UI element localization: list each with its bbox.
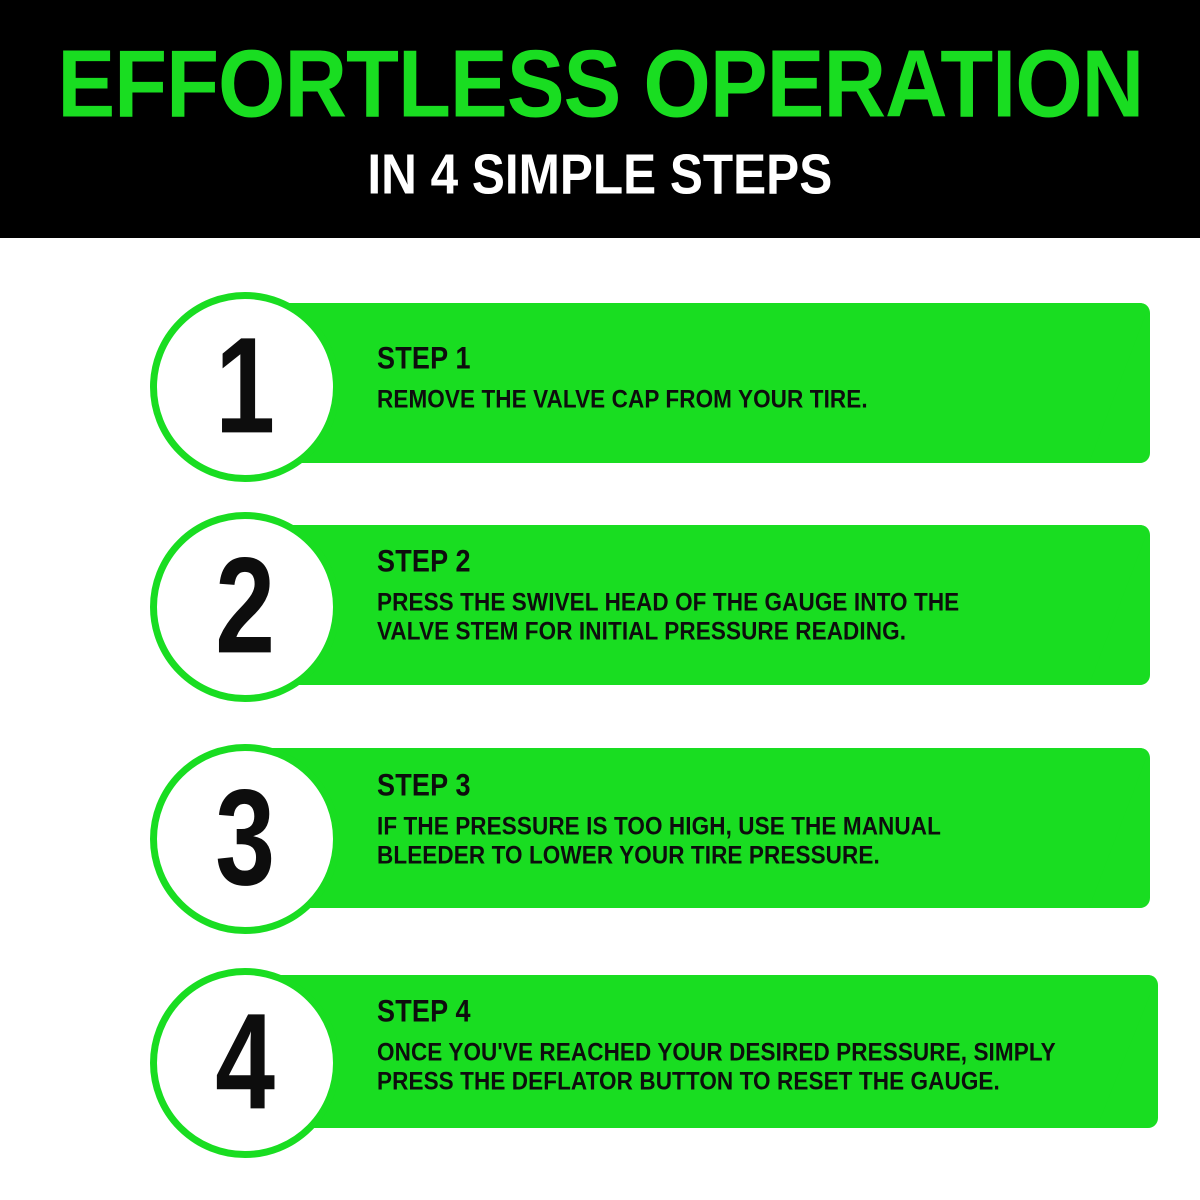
step-number-badge: 3 — [150, 744, 340, 934]
step-text-block: STEP 2 PRESS THE SWIVEL HEAD OF THE GAUG… — [377, 548, 959, 647]
step-title: STEP 4 — [377, 996, 1056, 1027]
step-description-line: PRESS THE SWIVEL HEAD OF THE GAUGE INTO … — [377, 588, 959, 620]
steps-list: 1 STEP 1 REMOVE THE VALVE CAP FROM YOUR … — [0, 238, 1200, 1200]
step-description-line: VALVE STEM FOR INITIAL PRESSURE READING. — [377, 616, 959, 648]
step-title: STEP 2 — [377, 546, 959, 577]
step-title: STEP 3 — [377, 770, 941, 801]
page-subtitle: IN 4 SIMPLE STEPS — [368, 145, 833, 202]
step-description-line: BLEEDER TO LOWER YOUR TIRE PRESSURE. — [377, 840, 941, 872]
page-title: EFFORTLESS OPERATION — [57, 38, 1143, 131]
step-row: 4 STEP 4 ONCE YOU'VE REACHED YOUR DESIRE… — [0, 968, 1200, 1178]
step-number-label: 3 — [215, 770, 275, 907]
step-row: 1 STEP 1 REMOVE THE VALVE CAP FROM YOUR … — [0, 292, 1200, 492]
step-description-line: ONCE YOU'VE REACHED YOUR DESIRED PRESSUR… — [377, 1038, 1056, 1070]
step-number-label: 4 — [215, 994, 275, 1131]
step-description-line: IF THE PRESSURE IS TOO HIGH, USE THE MAN… — [377, 812, 941, 844]
step-text-block: STEP 1 REMOVE THE VALVE CAP FROM YOUR TI… — [377, 345, 868, 415]
step-number-badge: 4 — [150, 968, 340, 1158]
step-text-block: STEP 4 ONCE YOU'VE REACHED YOUR DESIRED … — [377, 998, 1056, 1097]
step-row: 3 STEP 3 IF THE PRESSURE IS TOO HIGH, US… — [0, 744, 1200, 944]
step-text-block: STEP 3 IF THE PRESSURE IS TOO HIGH, USE … — [377, 772, 941, 871]
step-number-label: 2 — [215, 538, 275, 675]
step-row: 2 STEP 2 PRESS THE SWIVEL HEAD OF THE GA… — [0, 512, 1200, 712]
header-band: EFFORTLESS OPERATION IN 4 SIMPLE STEPS — [0, 0, 1200, 238]
step-title: STEP 1 — [377, 343, 868, 374]
step-number-badge: 1 — [150, 292, 340, 482]
infographic-page: EFFORTLESS OPERATION IN 4 SIMPLE STEPS 1… — [0, 0, 1200, 1200]
step-description-line: PRESS THE DEFLATOR BUTTON TO RESET THE G… — [377, 1066, 1056, 1098]
step-description-line: REMOVE THE VALVE CAP FROM YOUR TIRE. — [377, 385, 868, 417]
step-number-badge: 2 — [150, 512, 340, 702]
step-number-label: 1 — [215, 318, 275, 455]
